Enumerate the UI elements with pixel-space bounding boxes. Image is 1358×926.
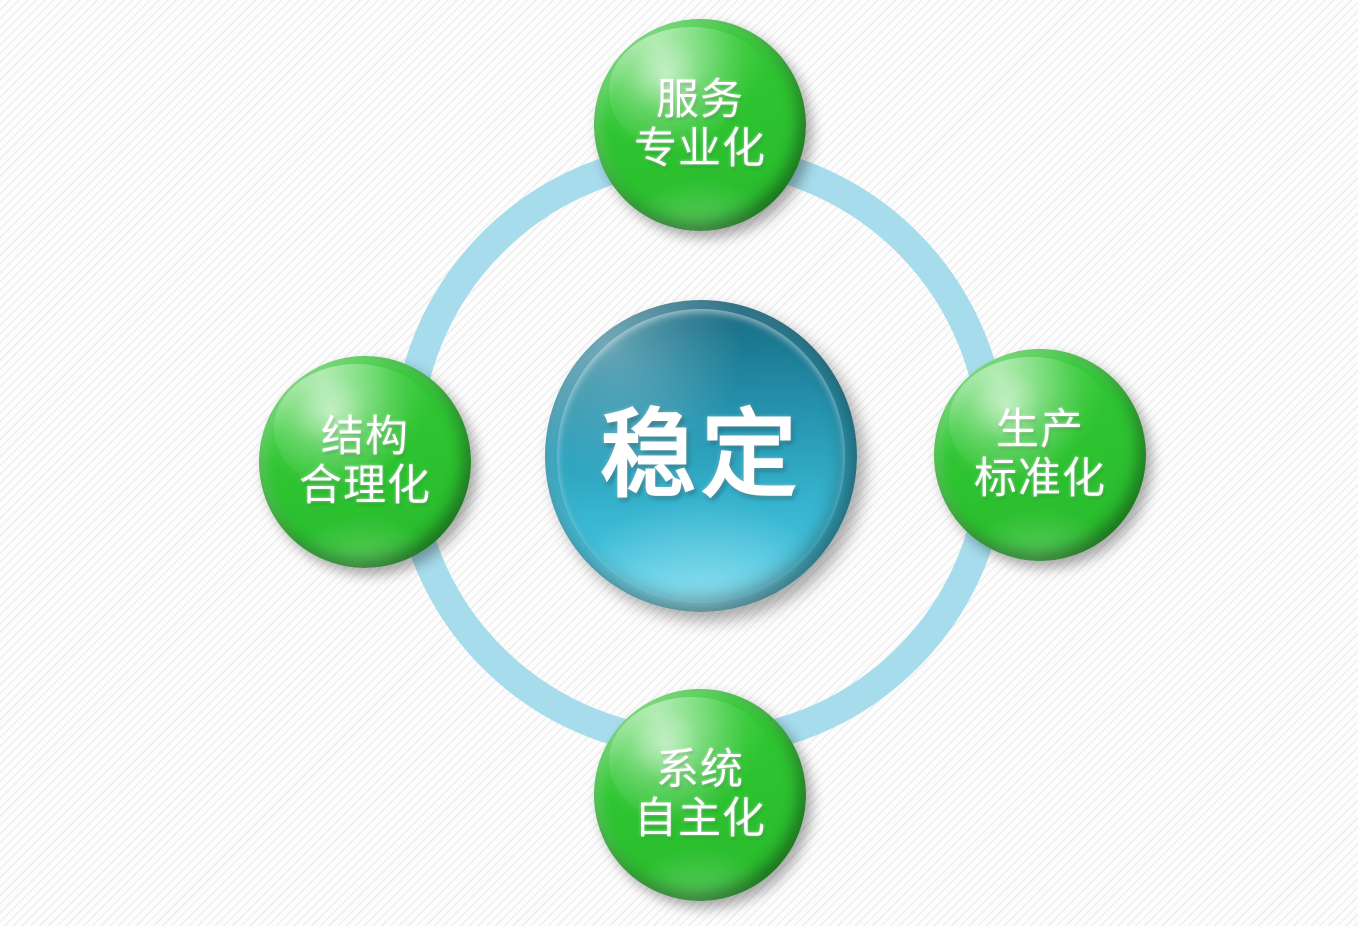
node-label-line1: 生产 xyxy=(996,406,1084,455)
node-label-line1: 服务 xyxy=(656,76,744,125)
node-service-specialization[interactable]: 服务 专业化 xyxy=(594,19,806,231)
diagram-canvas: 服务 专业化 生产 标准化 系统 自主化 结构 合理化 稳定 xyxy=(0,0,1358,926)
node-production-standardization[interactable]: 生产 标准化 xyxy=(934,349,1146,561)
node-structure-rationalization[interactable]: 结构 合理化 xyxy=(259,356,471,568)
node-label-line1: 系统 xyxy=(656,746,744,795)
node-label-line2: 专业化 xyxy=(634,125,766,174)
node-center-stability[interactable]: 稳定 xyxy=(545,300,857,612)
node-label-line2: 自主化 xyxy=(634,795,766,844)
node-label-line2: 合理化 xyxy=(299,462,431,511)
node-system-autonomy[interactable]: 系统 自主化 xyxy=(594,689,806,901)
node-label-line1: 结构 xyxy=(321,413,409,462)
node-label-line2: 标准化 xyxy=(974,455,1106,504)
center-label: 稳定 xyxy=(600,401,802,510)
